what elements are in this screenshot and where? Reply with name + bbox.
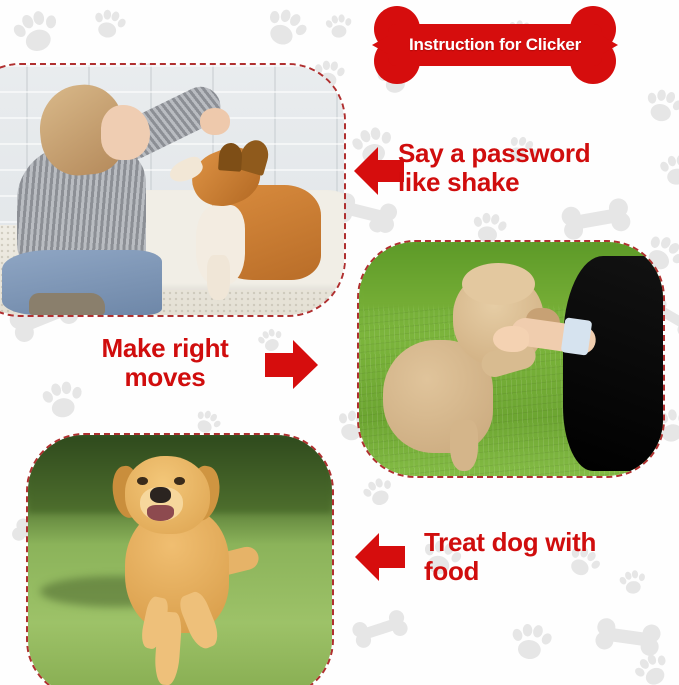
paw-print-icon — [639, 83, 679, 130]
caption-line-2: food — [424, 557, 664, 586]
caption-say-password: Say a password like shake — [398, 139, 648, 197]
bone-icon — [348, 607, 411, 651]
caption-line-2: like shake — [398, 168, 648, 197]
bone-icon — [558, 196, 635, 242]
paw-print-icon — [89, 5, 130, 46]
photo-poodle-shaking-hand — [357, 240, 665, 478]
caption-make-right-moves: Make right moves — [70, 334, 260, 392]
caption-line-1: Say a password — [398, 139, 648, 168]
poster-canvas: Instruction for Clicker Say a password l… — [0, 0, 679, 685]
paw-print-icon — [507, 619, 555, 667]
paw-print-icon — [7, 3, 68, 64]
paw-print-icon — [323, 11, 355, 43]
photo-woman-training-corgi — [0, 63, 346, 317]
title-text: Instruction for Clicker — [366, 6, 624, 84]
arrow-left-icon-treat-dog — [353, 528, 407, 586]
caption-treat-dog-with-food: Treat dog with food — [424, 528, 664, 586]
caption-line-1: Treat dog with — [424, 528, 664, 557]
caption-line-1: Make right — [70, 334, 260, 363]
arrow-right-icon-make-right-moves — [262, 337, 320, 393]
bone-icon — [592, 616, 664, 658]
paw-print-icon — [657, 151, 679, 191]
paw-print-icon — [256, 0, 314, 58]
photo-golden-retriever-running — [26, 433, 334, 685]
paw-print-icon — [358, 472, 401, 515]
title-bone-badge: Instruction for Clicker — [366, 6, 624, 84]
caption-line-2: moves — [70, 363, 260, 392]
